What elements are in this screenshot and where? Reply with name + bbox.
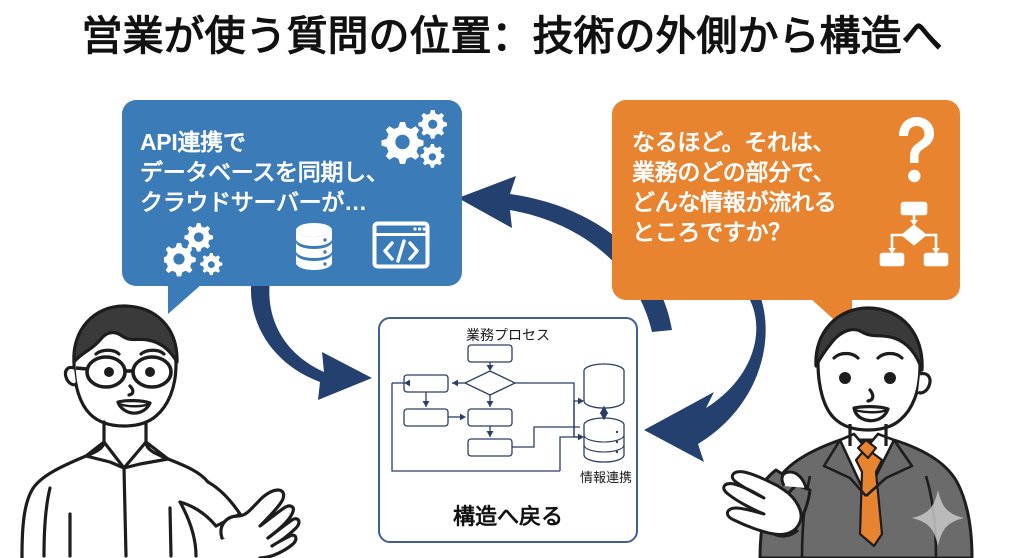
flow-box-left-upper xyxy=(404,375,448,392)
cylinder-lower xyxy=(584,418,624,462)
flow-box-left-lower xyxy=(404,409,448,426)
flow-box-mid xyxy=(468,409,512,426)
flowchart-icon xyxy=(878,201,950,272)
slide-canvas: 営業が使う質問の位置：技術の外側から構造へ API連携で データベースを同期し、… xyxy=(0,0,1024,558)
flow-box-top xyxy=(468,345,512,362)
speech-bubble-blue[interactable]: API連携で データベースを同期し、 クラウドサーバーが… xyxy=(122,100,462,286)
gears-icon xyxy=(376,108,452,179)
arrowhead-mid-in xyxy=(460,414,466,421)
flow-diamond xyxy=(465,371,515,395)
cylinder-upper xyxy=(584,364,624,408)
arrowhead-db-lower xyxy=(578,434,584,441)
database-icon xyxy=(292,221,336,278)
speech-bubble-orange[interactable]: なるほど。それは、 業務のどの部分で、 どんな情報が流れる ところですか？ xyxy=(612,100,960,300)
sales-character xyxy=(710,290,1020,558)
diagram-db-label: 情報連携 xyxy=(580,467,632,486)
gears-small-icon xyxy=(164,221,230,282)
arrowhead-mid xyxy=(487,401,494,407)
blue-bubble-text: API連携で データベースを同期し、 クラウドサーバーが… xyxy=(140,128,389,218)
arrowhead-down-left xyxy=(423,401,430,407)
engineer-character xyxy=(10,276,320,558)
code-window-icon xyxy=(372,221,430,274)
arrowhead-top xyxy=(487,365,494,371)
orange-bubble-text: なるほど。それは、 業務のどの部分で、 どんな情報が流れる ところですか？ xyxy=(632,128,836,248)
question-mark-icon xyxy=(890,114,942,191)
diagram-footer-label: 構造へ戻る xyxy=(380,499,636,531)
business-process-diagram-card[interactable]: 業務プロセス xyxy=(378,317,638,543)
page-title: 営業が使う質問の位置：技術の外側から構造へ xyxy=(0,14,1024,60)
arrowhead-bottom xyxy=(487,431,494,437)
arrowhead-left xyxy=(452,380,458,387)
arrowhead-db-upper xyxy=(578,398,584,405)
flow-box-bottom xyxy=(468,439,512,456)
